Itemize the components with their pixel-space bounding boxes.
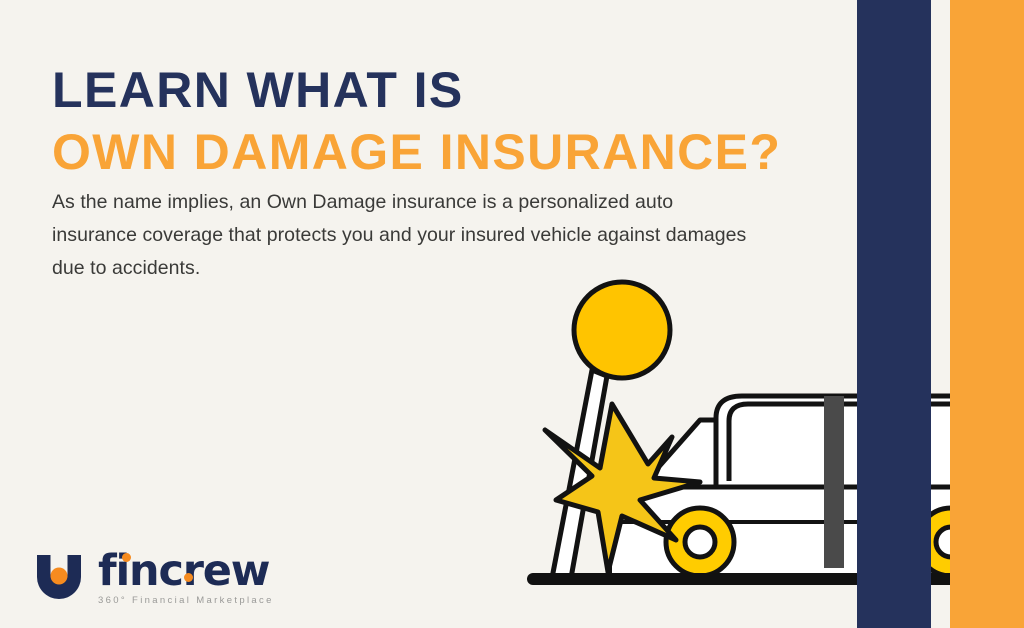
car-cabin (716, 396, 990, 487)
fincrew-logo-mark (33, 551, 85, 603)
body-paragraph: As the name implies, an Own Damage insur… (52, 186, 762, 285)
navy-accent-band (857, 0, 931, 628)
lamp-head (574, 282, 670, 378)
page-title: LEARN WHAT IS OWN DAMAGE INSURANCE? (52, 62, 781, 180)
fincrew-tagline: 360° Financial Marketplace (98, 595, 274, 607)
logo-dot-i-icon (122, 553, 131, 562)
logo-dot-e-icon (184, 573, 193, 582)
insurance-banner: LEARN WHAT IS OWN DAMAGE INSURANCE? As t… (0, 0, 1024, 628)
headline-line-2: OWN DAMAGE INSURANCE? (52, 124, 781, 180)
fincrew-wordmark: fincrew (98, 550, 274, 592)
fincrew-logo[interactable]: fincrew 360° Financial Marketplace (33, 550, 274, 607)
fincrew-logo-text: fincrew 360° Financial Marketplace (98, 550, 274, 607)
orange-accent-band (950, 0, 1024, 628)
car-b-pillar (824, 396, 844, 568)
headline-line-1: LEARN WHAT IS (52, 62, 781, 118)
